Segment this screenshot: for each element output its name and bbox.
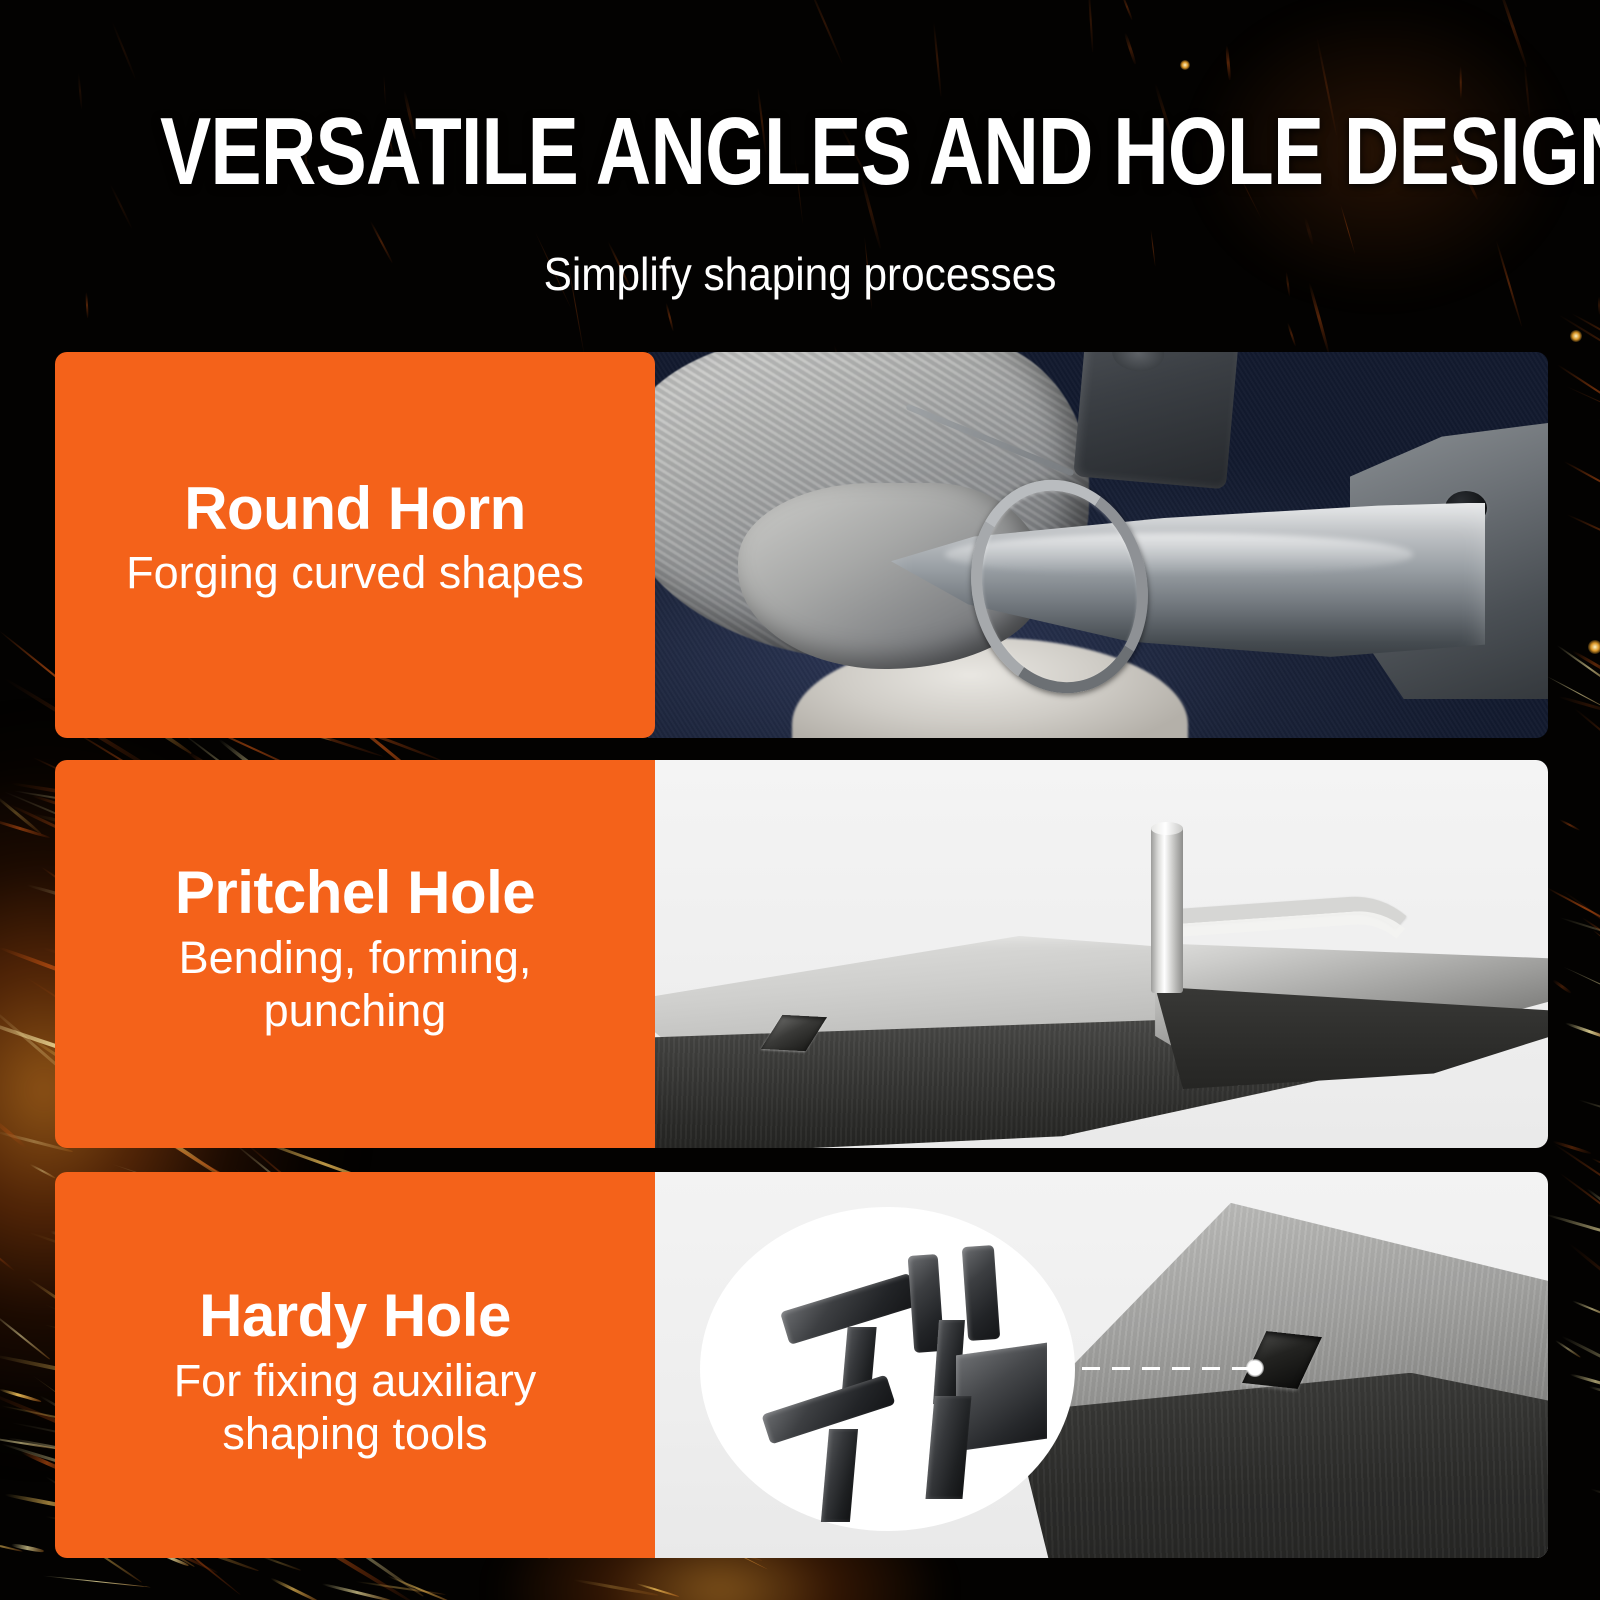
spark-ember xyxy=(1180,60,1190,70)
feature-panel-round-horn[interactable]: Round Horn Forging curved shapes xyxy=(55,352,655,738)
callout-endpoint-dot xyxy=(1246,1359,1264,1377)
tools-callout-ellipse xyxy=(700,1207,1075,1531)
feature-title-pritchel-hole: Pritchel Hole xyxy=(89,859,621,926)
tool-shank xyxy=(926,1396,972,1499)
page-subtitle: Simplify shaping processes xyxy=(64,249,1536,300)
feature-photo-hardy-hole xyxy=(655,1172,1548,1558)
callout-dashed-line xyxy=(1052,1367,1253,1370)
spark-ember xyxy=(1588,640,1600,654)
feature-panel-pritchel-hole[interactable]: Pritchel Hole Bending, forming, punching xyxy=(55,760,655,1148)
steel-rod-cap xyxy=(1151,822,1183,835)
feature-row-round-horn: Round Horn Forging curved shapes xyxy=(55,352,1548,738)
spark-ember xyxy=(1570,330,1582,342)
feature-photo-round-horn xyxy=(648,352,1548,738)
feature-row-pritchel-hole: Pritchel Hole Bending, forming, punching xyxy=(55,760,1548,1148)
forging-tongs xyxy=(1073,352,1240,490)
feature-title-round-horn: Round Horn xyxy=(126,475,584,542)
page-title: VERSATILE ANGLES AND HOLE DESIGN xyxy=(160,104,1440,200)
feature-photo-pritchel-hole xyxy=(655,760,1548,1148)
steel-rod-vertical xyxy=(1151,826,1183,993)
feature-description-hardy-hole: For fixing auxiliary shaping tools xyxy=(89,1354,621,1460)
tool-prong-right xyxy=(962,1245,1001,1341)
feature-description-round-horn: Forging curved shapes xyxy=(126,546,584,599)
feature-row-hardy-hole: Hardy Hole For fixing auxiliary shaping … xyxy=(55,1172,1548,1558)
feature-description-pritchel-hole: Bending, forming, punching xyxy=(89,931,621,1037)
feature-title-hardy-hole: Hardy Hole xyxy=(89,1282,621,1349)
hardy-tool-swage-lower xyxy=(763,1388,936,1524)
infographic-canvas: VERSATILE ANGLES AND HOLE DESIGN Simplif… xyxy=(0,0,1600,1600)
tool-shank xyxy=(821,1429,858,1522)
hardy-tool-cutoff xyxy=(925,1349,1068,1505)
feature-panel-hardy-hole[interactable]: Hardy Hole For fixing auxiliary shaping … xyxy=(55,1172,655,1558)
